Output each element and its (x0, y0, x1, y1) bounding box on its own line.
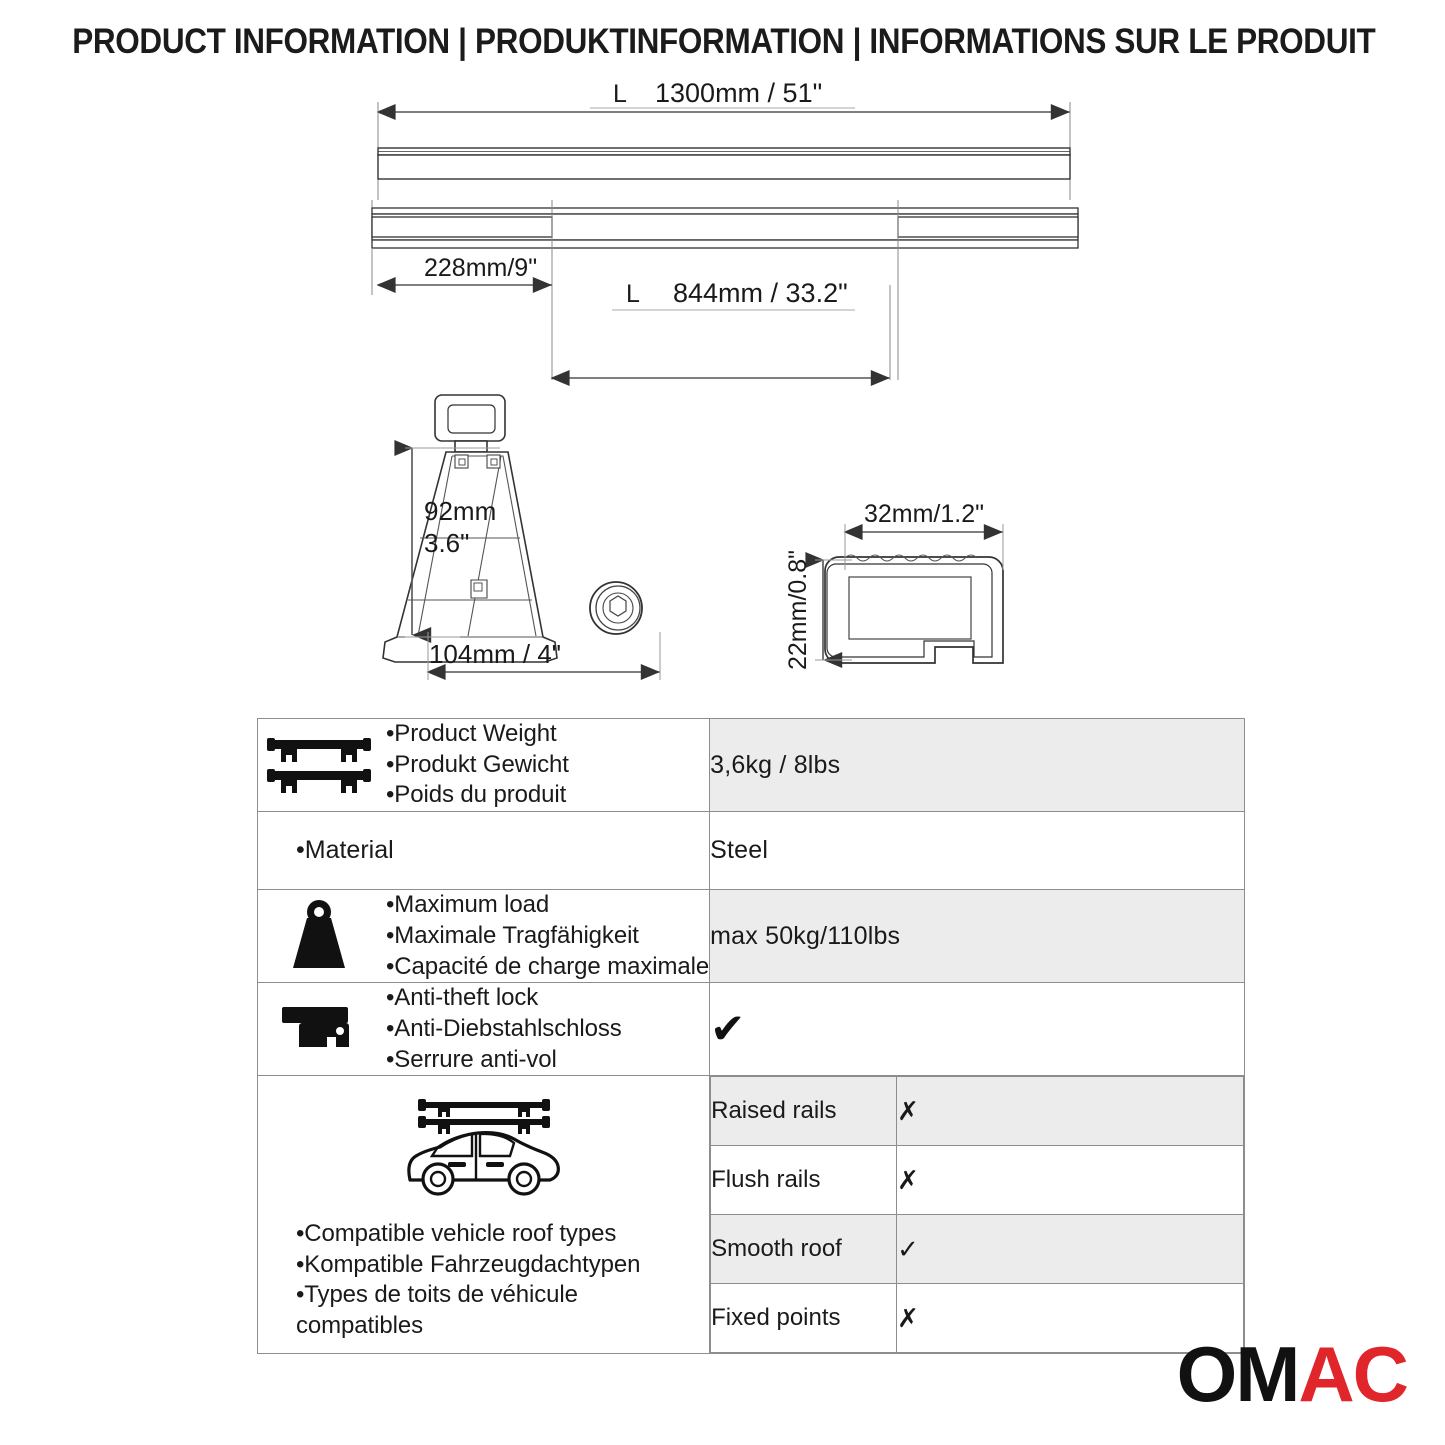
table-row: •Material Steel (258, 812, 1245, 890)
table-row: •Anti-theft lock •Anti-Diebstahlschloss … (258, 983, 1245, 1076)
table-row: •Product Weight •Produkt Gewicht •Poids … (258, 719, 1245, 812)
material-value: Steel (710, 812, 1245, 890)
roof-type-mark-cell: ✓ (897, 1215, 1244, 1284)
profile-height-value: 22mm/0.8" (784, 550, 812, 670)
table-row: •Compatible vehicle roof types •Kompatib… (258, 1076, 1245, 1354)
bar-length-value: 1300mm / 51" (655, 80, 822, 108)
bar-side-view (378, 148, 1070, 179)
label-line-en: •Anti-theft lock (386, 984, 538, 1011)
specification-table: •Product Weight •Produkt Gewicht •Poids … (257, 718, 1245, 1354)
label-line-fr: •Poids du produit (386, 781, 566, 808)
product-weight-label-cell: •Product Weight •Produkt Gewicht •Poids … (258, 719, 710, 812)
roof-types-label-cell: •Compatible vehicle roof types •Kompatib… (258, 1076, 710, 1354)
roof-type-row: Smooth roof ✓ (711, 1215, 1244, 1284)
crossbars-icon (258, 734, 380, 796)
roof-type-name: Raised rails (711, 1077, 897, 1146)
anti-theft-lock-label-cell: •Anti-theft lock •Anti-Diebstahlschloss … (258, 983, 710, 1076)
label-line-de: •Kompatible Fahrzeugdachtypen (296, 1251, 640, 1278)
label-line-en: •Compatible vehicle roof types (296, 1220, 616, 1247)
page-title: PRODUCT INFORMATION | PRODUKTINFORMATION… (72, 22, 1373, 62)
foot-height-line2: 3.6" (424, 528, 469, 558)
cross-icon: ✗ (897, 1303, 919, 1333)
table-row: •Maximum load •Maximale Tragfähigkeit •C… (258, 890, 1245, 983)
profile-width-value: 32mm/1.2" (864, 500, 984, 528)
cross-icon: ✗ (897, 1165, 919, 1195)
foot-width-value: 104mm / 4" (429, 639, 561, 669)
label-line-fr: •Types de toits de véhicule compatibles (296, 1281, 578, 1339)
roof-type-name: Fixed points (711, 1284, 897, 1353)
bar-cross-section (825, 555, 1003, 663)
material-label-cell: •Material (258, 812, 710, 890)
label-line-en: •Product Weight (386, 720, 557, 747)
check-icon: ✓ (897, 1234, 919, 1264)
roof-rack-foot-front-view (383, 395, 642, 662)
foot-height-line1: 92mm (424, 496, 496, 526)
roof-types-subtable: Raised rails ✗ Flush rails ✗ (710, 1076, 1244, 1353)
roof-type-name: Flush rails (711, 1146, 897, 1215)
anti-theft-lock-value: ✔ (710, 983, 1245, 1076)
label-line-en: •Maximum load (386, 891, 549, 918)
logo-text-dark: OM (1177, 1330, 1299, 1418)
label-line-de: •Maximale Tragfähigkeit (386, 922, 639, 949)
roof-type-mark-cell: ✗ (897, 1077, 1244, 1146)
logo-text-red: AC (1298, 1330, 1407, 1418)
technical-drawing: L 1300mm / 51" 228mm/9" L 844mm / 33.2" … (0, 80, 1445, 700)
max-load-labels: •Maximum load •Maximale Tragfähigkeit •C… (386, 890, 709, 982)
label-line-de: •Anti-Diebstahlschloss (386, 1015, 622, 1042)
roof-type-row: Fixed points ✗ (711, 1284, 1244, 1353)
check-icon: ✔ (710, 1008, 745, 1050)
material-label: •Material (258, 812, 709, 889)
end-offset-value: 228mm/9" (424, 254, 537, 282)
car-with-roof-rack-icon (258, 1092, 709, 1205)
max-load-label-cell: •Maximum load •Maximale Tragfähigkeit •C… (258, 890, 710, 983)
weight-icon (258, 898, 380, 974)
lock-icon (258, 1001, 380, 1057)
product-weight-labels: •Product Weight •Produkt Gewicht •Poids … (386, 719, 709, 811)
roof-type-row: Flush rails ✗ (711, 1146, 1244, 1215)
cross-icon: ✗ (897, 1096, 919, 1126)
max-load-value: max 50kg/110lbs (710, 890, 1245, 983)
span-prefix: L (626, 280, 640, 308)
label-line-de: •Produkt Gewicht (386, 751, 569, 778)
label-line-fr: •Serrure anti-vol (386, 1046, 557, 1073)
roof-type-row: Raised rails ✗ (711, 1077, 1244, 1146)
product-information-page: PRODUCT INFORMATION | PRODUKTINFORMATION… (0, 0, 1445, 1445)
roof-types-value-cell: Raised rails ✗ Flush rails ✗ (710, 1076, 1245, 1354)
roof-type-name: Smooth roof (711, 1215, 897, 1284)
product-weight-value: 3,6kg / 8lbs (710, 719, 1245, 812)
roof-type-mark-cell: ✗ (897, 1146, 1244, 1215)
label-line-fr: •Capacité de charge maximale (386, 953, 709, 980)
bar-length-prefix: L (613, 80, 627, 108)
roof-types-labels: •Compatible vehicle roof types •Kompatib… (258, 1219, 709, 1342)
omac-logo: OMAC (1177, 1335, 1407, 1413)
anti-theft-lock-labels: •Anti-theft lock •Anti-Diebstahlschloss … (386, 983, 709, 1075)
span-value: 844mm / 33.2" (673, 278, 848, 308)
